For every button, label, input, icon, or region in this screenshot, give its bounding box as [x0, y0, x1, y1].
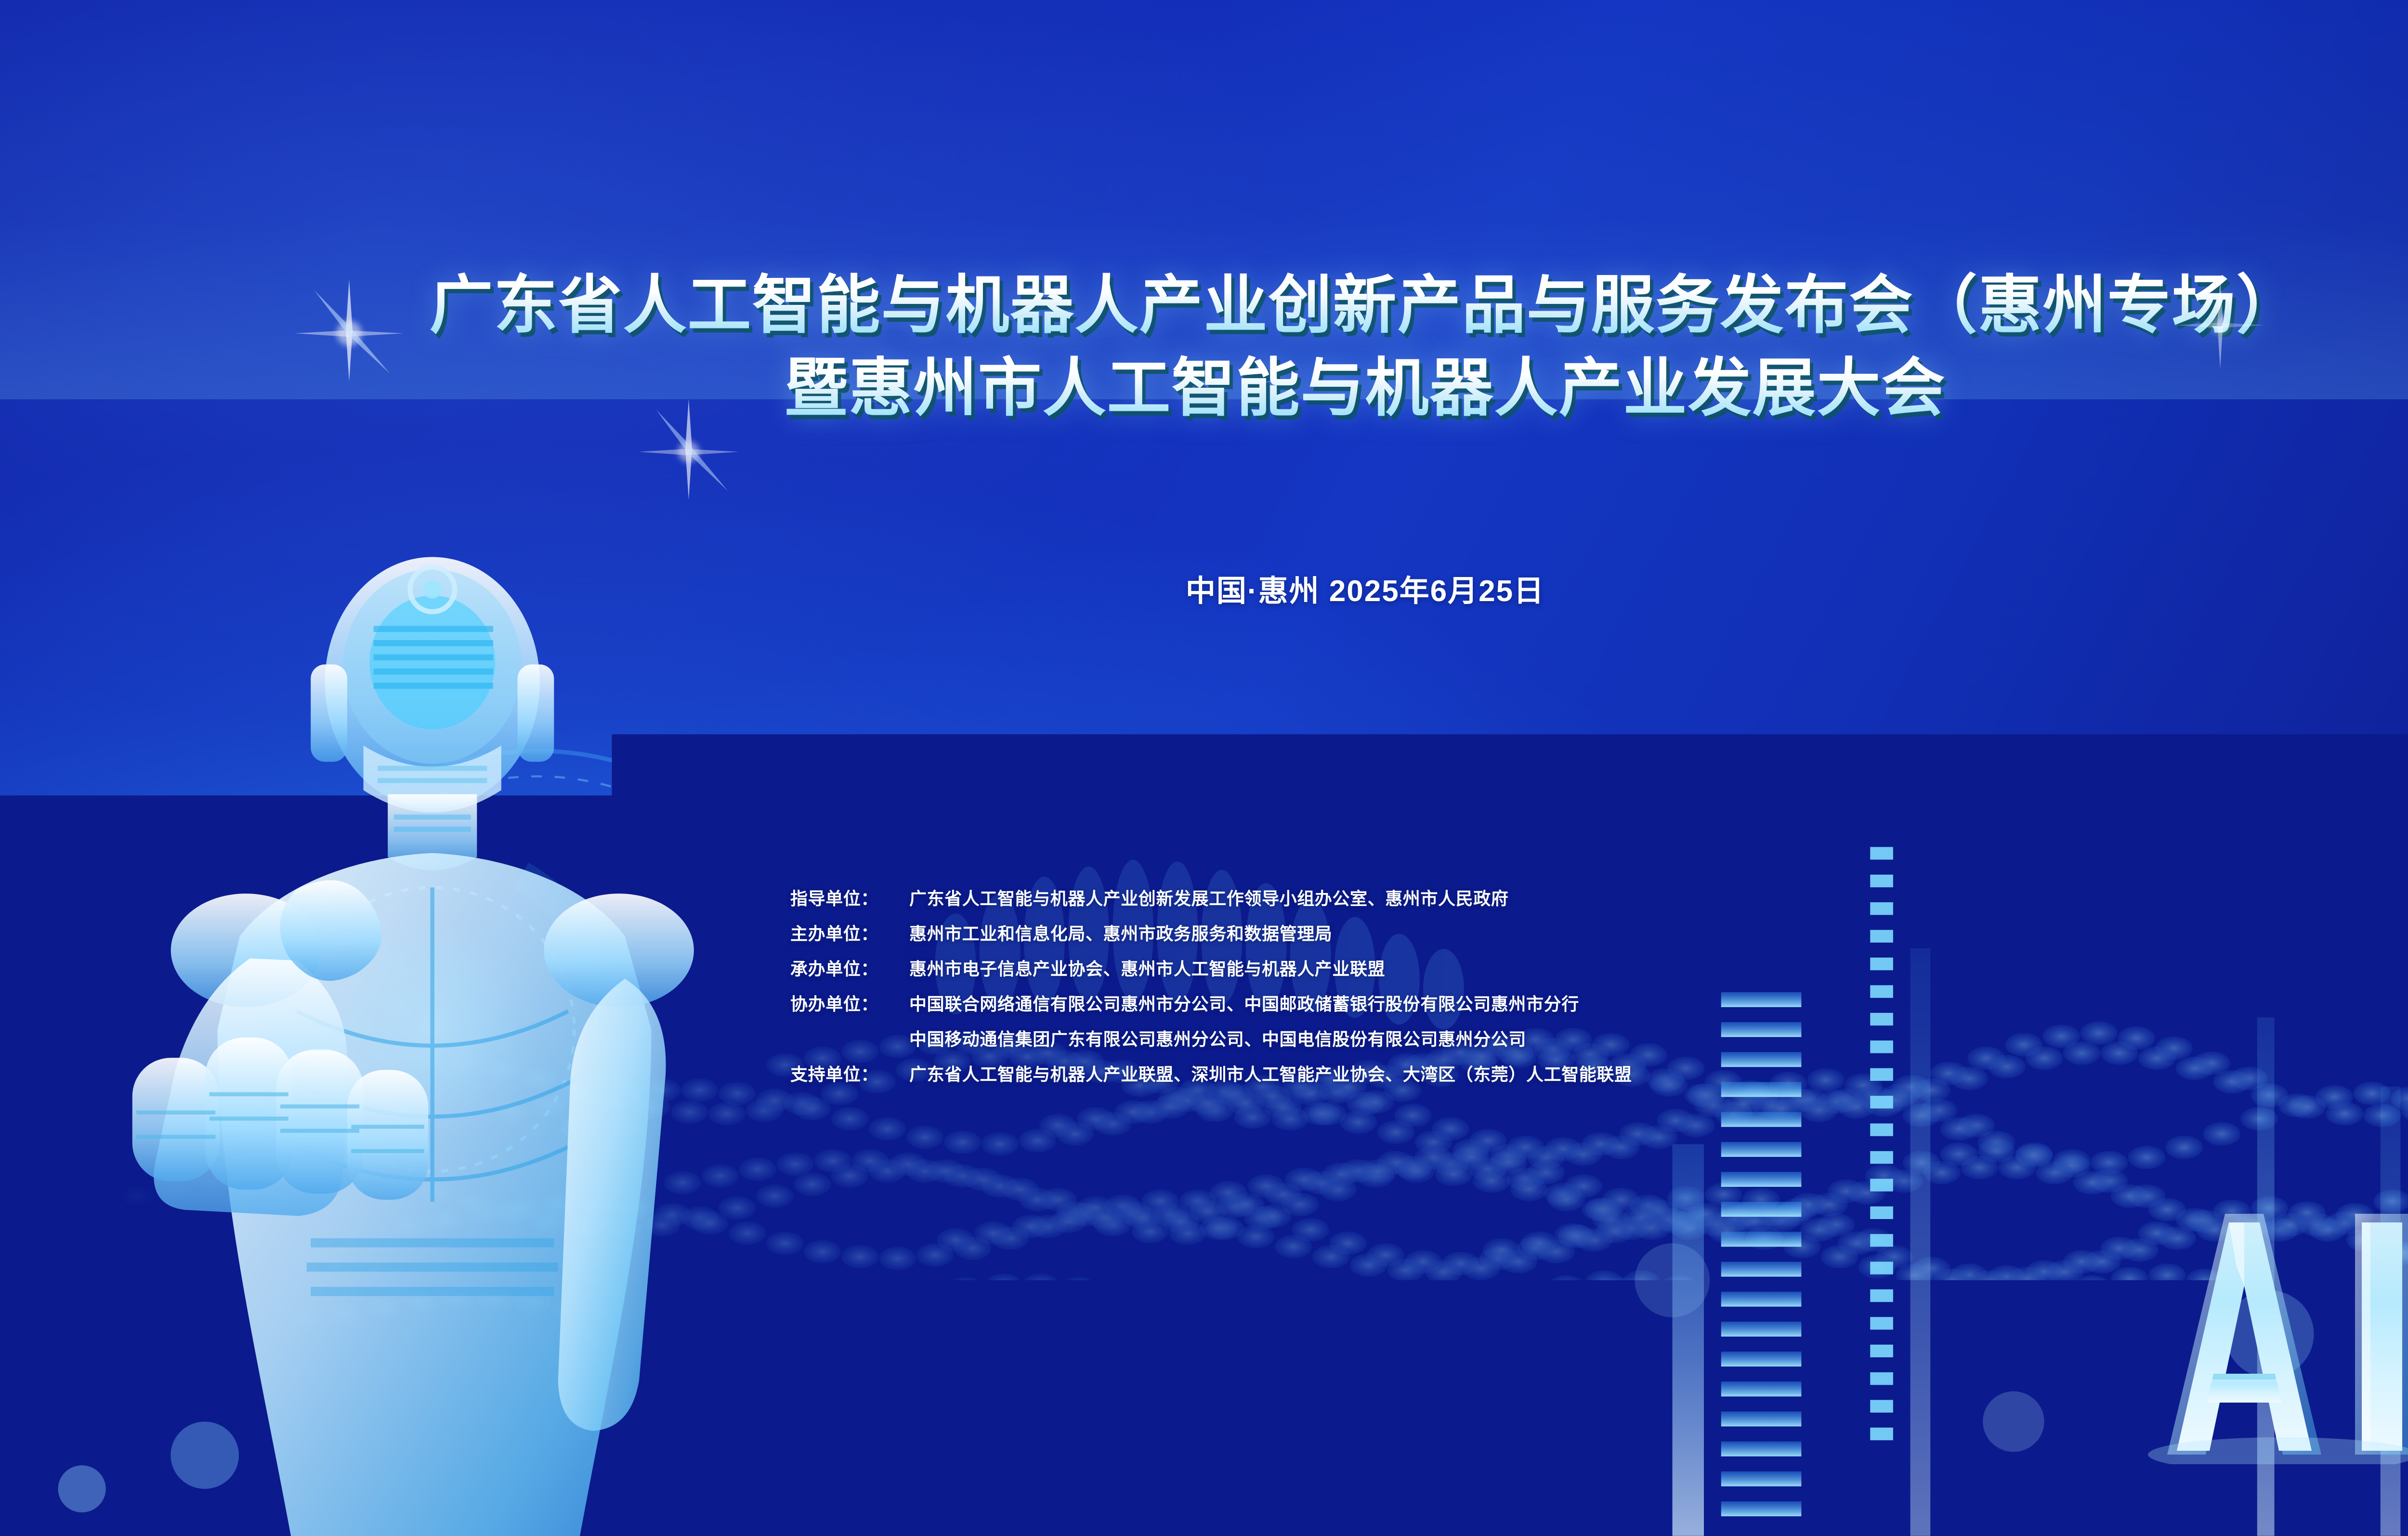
organizer-value: 广东省人工智能与机器人产业创新发展工作领导小组办公室、惠州市人民政府 — [909, 885, 1632, 910]
organizer-label: 承办单位： — [790, 955, 909, 980]
organizer-label: 主办单位： — [790, 920, 909, 945]
organizer-label: 支持单位： — [790, 1061, 909, 1086]
organizer-value: 中国移动通信集团广东有限公司惠州分公司、中国电信股份有限公司惠州分公司 — [909, 1025, 1632, 1050]
organizer-row-3: 协办单位： 中国联合网络通信有限公司惠州市分公司、中国邮政储蓄银行股份有限公司惠… — [790, 990, 1632, 1015]
organizer-list: 指导单位： 广东省人工智能与机器人产业创新发展工作领导小组办公室、惠州市人民政府… — [790, 885, 1632, 1086]
organizer-row-0: 指导单位： 广东省人工智能与机器人产业创新发展工作领导小组办公室、惠州市人民政府 — [790, 885, 1632, 910]
organizer-value: 中国联合网络通信有限公司惠州市分公司、中国邮政储蓄银行股份有限公司惠州市分行 — [909, 990, 1632, 1015]
organizer-row-4: 协办单位： 中国移动通信集团广东有限公司惠州分公司、中国电信股份有限公司惠州分公… — [790, 1025, 1632, 1050]
title-block: 广东省人工智能与机器人产业创新产品与服务发布会（惠州专场） 暨惠州市人工智能与机… — [0, 264, 2408, 429]
poster-canvas: 广东省人工智能与机器人产业创新产品与服务发布会（惠州专场） 暨惠州市人工智能与机… — [0, 0, 2408, 1536]
organizer-value: 惠州市电子信息产业协会、惠州市人工智能与机器人产业联盟 — [909, 955, 1632, 980]
ai-logo — [2105, 1195, 2408, 1464]
title-line-2: 暨惠州市人工智能与机器人产业发展大会 — [0, 347, 2408, 430]
organizer-value: 惠州市工业和信息化局、惠州市政务服务和数据管理局 — [909, 920, 1632, 945]
organizer-value: 广东省人工智能与机器人产业联盟、深圳市人工智能产业协会、大湾区（东莞）人工智能联… — [909, 1061, 1632, 1086]
subtitle-location-date: 中国·惠州 2025年6月25日 — [0, 566, 2408, 610]
organizer-row-2: 承办单位： 惠州市电子信息产业协会、惠州市人工智能与机器人产业联盟 — [790, 955, 1632, 980]
title-line-1: 广东省人工智能与机器人产业创新产品与服务发布会（惠州专场） — [0, 264, 2408, 347]
organizer-row-1: 主办单位： 惠州市工业和信息化局、惠州市政务服务和数据管理局 — [790, 920, 1632, 945]
humanoid-robot-figure — [30, 553, 794, 1536]
organizer-label: 指导单位： — [790, 885, 909, 910]
organizer-label: 协办单位： — [790, 990, 909, 1015]
organizer-row-5: 支持单位： 广东省人工智能与机器人产业联盟、深圳市人工智能产业协会、大湾区（东莞… — [790, 1061, 1632, 1086]
